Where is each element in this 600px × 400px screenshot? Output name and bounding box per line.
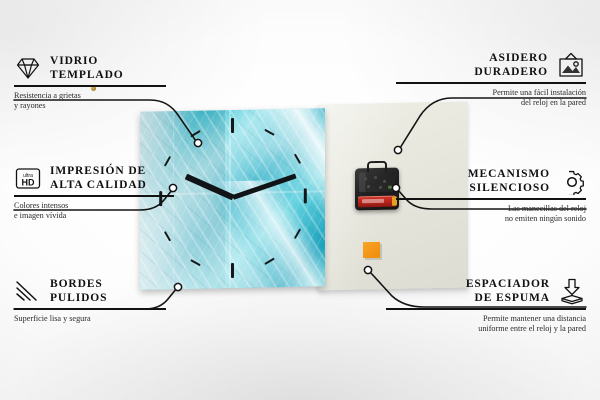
feature-title-line1: VIDRIO [50, 55, 124, 69]
feature-description: Permite una fácil instalación del reloj … [396, 88, 586, 108]
divider [386, 308, 586, 310]
feature-title-line1: MECANISMO [468, 168, 550, 182]
feature-bordes-pulidos[interactable]: BORDES PULIDOS Superficie lisa y segura [14, 278, 166, 324]
clock-mechanism [355, 168, 399, 211]
feature-title-line2: SILENCIOSO [468, 182, 550, 196]
mechanism-detail [367, 185, 370, 188]
feature-description: Las manecillas del reloj no emiten ningú… [396, 204, 586, 224]
feature-title-line1: BORDES [50, 278, 107, 292]
feature-title-line1: ASIDERO [474, 52, 548, 66]
gear-icon [558, 169, 586, 195]
feature-title-line1: ESPACIADOR [466, 278, 550, 292]
clock-tick [231, 262, 234, 277]
divider [14, 308, 166, 310]
feature-mecanismo-silencioso[interactable]: MECANISMO SILENCIOSO Las manecillas del … [396, 168, 586, 224]
battery-label [362, 199, 384, 203]
feature-description: Superficie lisa y segura [14, 314, 166, 324]
feature-description: Resistencia a grietas y rayones [14, 91, 166, 111]
feature-title-line2: ALTA CALIDAD [50, 179, 147, 193]
hanger-hook-icon [367, 161, 387, 172]
feature-asidero-duradero[interactable]: ASIDERO DURADERO Permite una fácil insta… [396, 52, 586, 108]
feature-vidrio-templado[interactable]: VIDRIO TEMPLADO Resistencia a grietas y … [14, 55, 166, 111]
ultra-hd-badge-icon: ultra HD [14, 166, 42, 191]
divider [14, 85, 166, 87]
feature-espaciador-de-espuma[interactable]: ESPACIADOR DE ESPUMA Permite mantener un… [386, 278, 586, 334]
feature-title-line2: TEMPLADO [50, 69, 124, 83]
clock-tick [231, 117, 234, 132]
icon-text-hd: HD [22, 178, 35, 188]
picture-hanger-icon [556, 52, 586, 79]
divider [396, 198, 586, 200]
foam-spacer [363, 242, 380, 258]
mechanism-emboss [359, 172, 395, 193]
feature-title-line2: PULIDOS [50, 292, 107, 306]
polished-edges-icon [14, 279, 42, 304]
face-highlight [177, 178, 325, 290]
feature-description: Colores intensos e imagen vívida [14, 201, 174, 221]
feature-description: Permite mantener una distancia uniforme … [386, 314, 586, 334]
feature-title-line1: IMPRESIÓN DE [50, 165, 147, 179]
feature-impresion-alta-calidad[interactable]: ultra HD IMPRESIÓN DE ALTA CALIDAD Color… [14, 165, 174, 221]
mechanism-label [388, 186, 392, 189]
foam-spacer-icon [558, 278, 586, 305]
infographic-canvas: VIDRIO TEMPLADO Resistencia a grietas y … [0, 0, 600, 400]
battery [358, 196, 396, 208]
clock-tick [304, 189, 307, 204]
divider [396, 82, 586, 84]
diamond-icon [14, 56, 42, 81]
feature-title-line2: DE ESPUMA [466, 292, 550, 306]
divider [14, 195, 174, 197]
feature-title-line2: DURADERO [474, 66, 548, 80]
